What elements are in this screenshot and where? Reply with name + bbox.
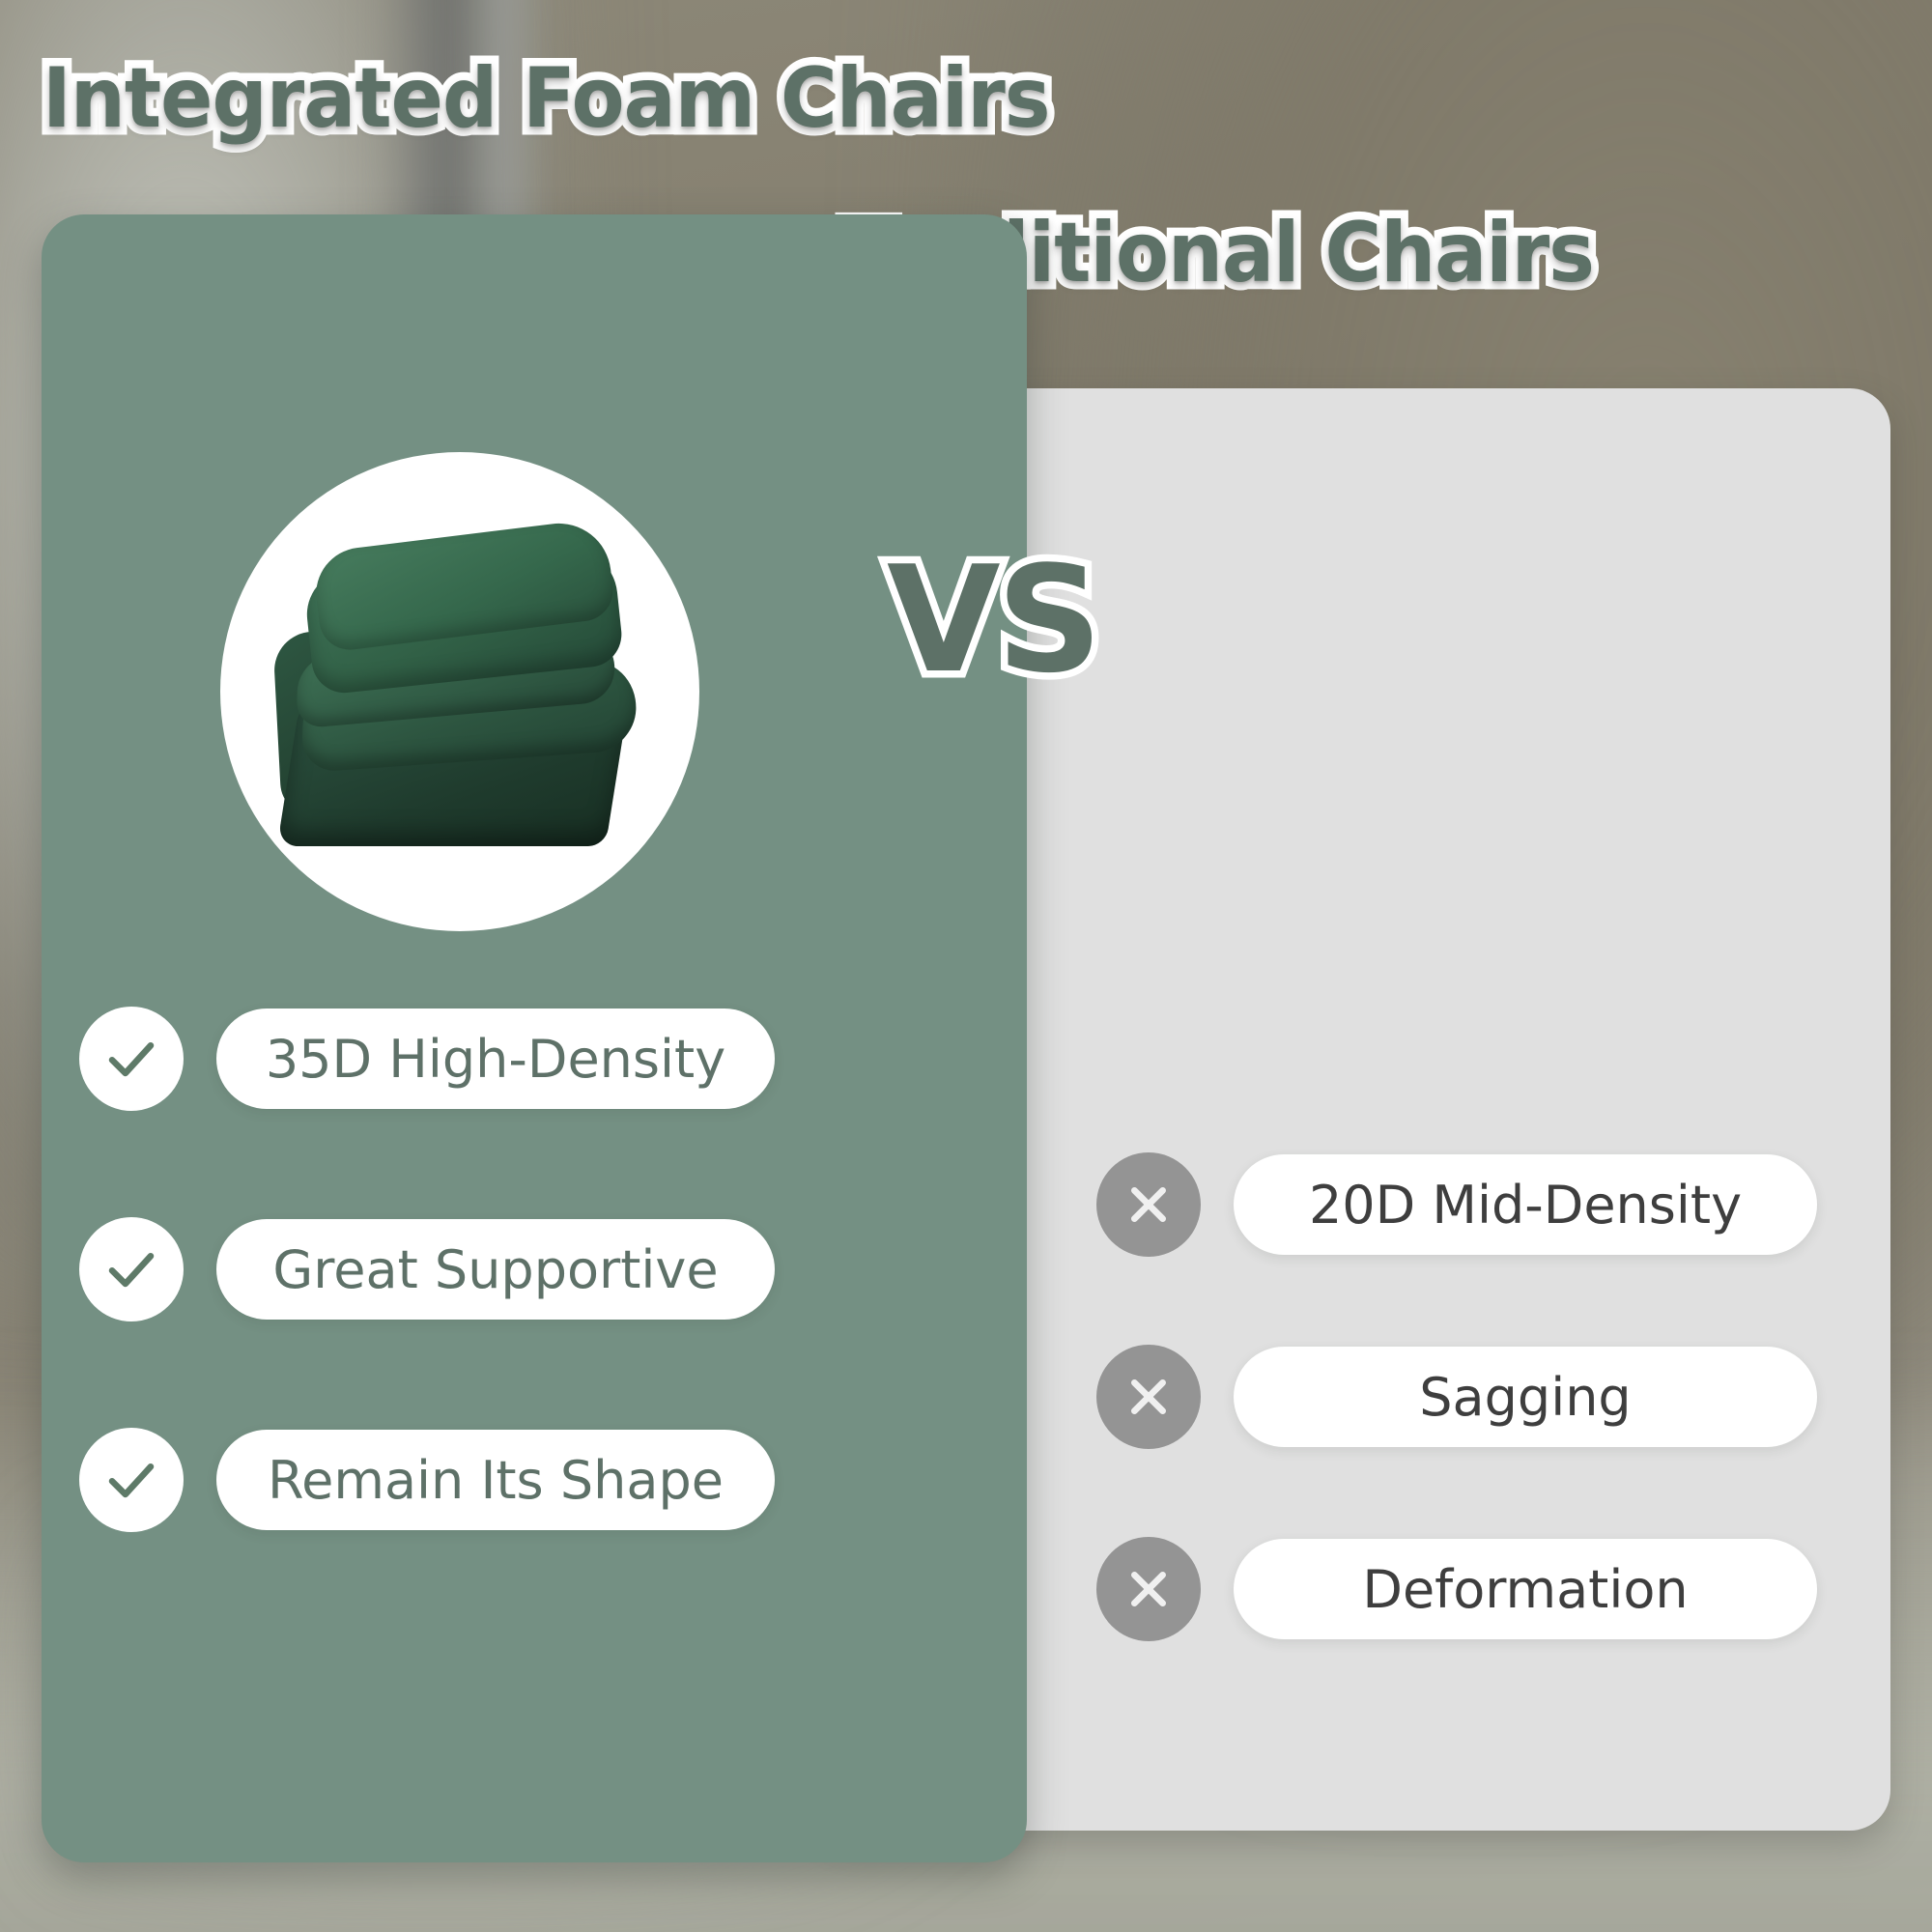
feature-pill: Great Supportive [216,1219,775,1320]
drawback-pill: Sagging [1234,1347,1817,1447]
versus-badge: VS [887,547,1098,694]
check-icon [79,1007,184,1111]
feature-row: 20D Mid-Density [1096,1152,1817,1257]
infographic-canvas: Traditional Chairs [0,0,1932,1932]
feature-row: Great Supportive [79,1217,775,1321]
feature-row: Deformation [1096,1537,1817,1641]
green-foam-chair-photo [220,452,699,931]
check-icon [79,1428,184,1532]
left-panel-title: Integrated Foam Chairs [43,50,1050,147]
drawback-pill: 20D Mid-Density [1234,1154,1817,1255]
feature-row: Sagging [1096,1345,1817,1449]
cross-icon [1096,1345,1201,1449]
feature-pill: Remain Its Shape [216,1430,775,1530]
cross-icon [1096,1152,1201,1257]
cross-icon [1096,1537,1201,1641]
feature-row: 35D High-Density [79,1007,775,1111]
feature-row: Remain Its Shape [79,1428,775,1532]
feature-pill: 35D High-Density [216,1009,775,1109]
foam-chair-illustration [252,527,668,875]
drawback-pill: Deformation [1234,1539,1817,1639]
check-icon [79,1217,184,1321]
